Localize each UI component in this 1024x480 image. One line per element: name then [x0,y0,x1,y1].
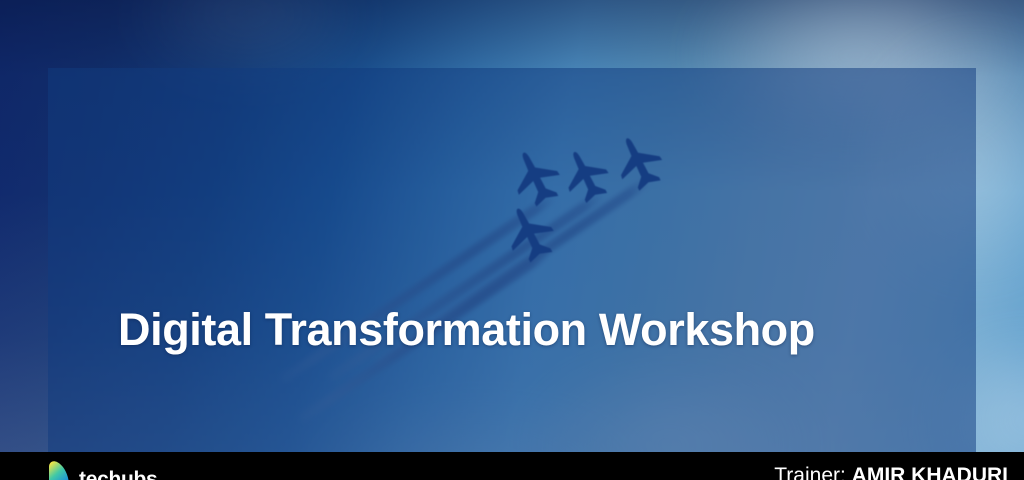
trainer-credit: Trainer: AMIR KHADURI [774,465,1008,480]
title-overlay-panel [48,68,976,452]
page-title: Digital Transformation Workshop [118,304,815,356]
footer-bar: techubs Trainer: AMIR KHADURI [0,452,1024,480]
wave-swoosh-logo-icon [46,460,72,480]
trainer-label: Trainer: [774,464,846,480]
brand-name: techubs [79,470,157,480]
trainer-name: AMIR KHADURI [852,464,1008,480]
presentation-slide: Digital Transformation Workshop techubs … [0,0,1024,480]
brand-logo[interactable]: techubs [46,460,157,480]
